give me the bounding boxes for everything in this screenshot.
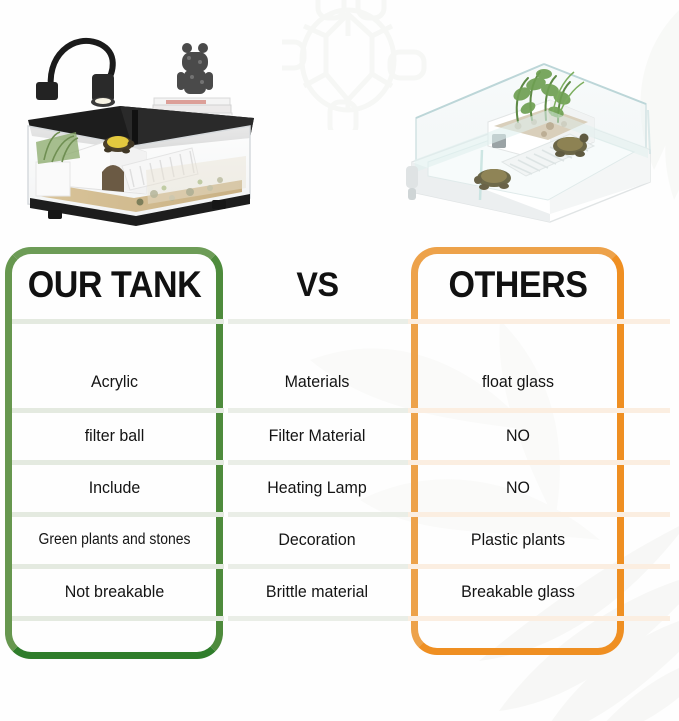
cell-ours: Green plants and stones <box>22 514 207 566</box>
glass-turtle-tank-image <box>398 50 664 225</box>
cell-feature: Brittle material <box>233 566 400 618</box>
cell-ours: Acrylic <box>18 356 211 408</box>
cell-others: NO <box>424 410 612 462</box>
table-header-row: OUR TANK VS OTHERS <box>0 254 679 316</box>
comparison-table: OUR TANK VS OTHERS Acrylic Materials flo… <box>0 240 679 670</box>
cell-others: Plastic plants <box>424 514 612 566</box>
comparison-infographic: OUR TANK VS OTHERS Acrylic Materials flo… <box>0 0 679 721</box>
header-others: OTHERS <box>426 254 610 316</box>
table-row: filter ball Filter Material NO <box>0 410 679 462</box>
table-row: Not breakable Brittle material Breakable… <box>0 566 679 618</box>
cell-others: float glass <box>424 356 612 408</box>
cell-feature: Decoration <box>233 514 400 566</box>
row-separator <box>0 319 679 324</box>
cell-feature: Heating Lamp <box>233 462 400 514</box>
cell-others: Breakable glass <box>424 566 612 618</box>
cell-ours: Not breakable <box>18 566 211 618</box>
cell-ours: Include <box>18 462 211 514</box>
acrylic-turtle-tank-image <box>14 22 264 227</box>
cell-others: NO <box>424 462 612 514</box>
table-row: Green plants and stones Decoration Plast… <box>0 514 679 566</box>
cell-ours: filter ball <box>18 410 211 462</box>
table-row: Include Heating Lamp NO <box>0 462 679 514</box>
header-vs: VS <box>244 254 391 316</box>
product-images <box>0 0 679 240</box>
cell-feature: Materials <box>233 356 400 408</box>
header-our-tank: OUR TANK <box>20 254 209 316</box>
table-row: Acrylic Materials float glass <box>0 356 679 408</box>
cell-feature: Filter Material <box>233 410 400 462</box>
row-separator <box>0 616 679 621</box>
